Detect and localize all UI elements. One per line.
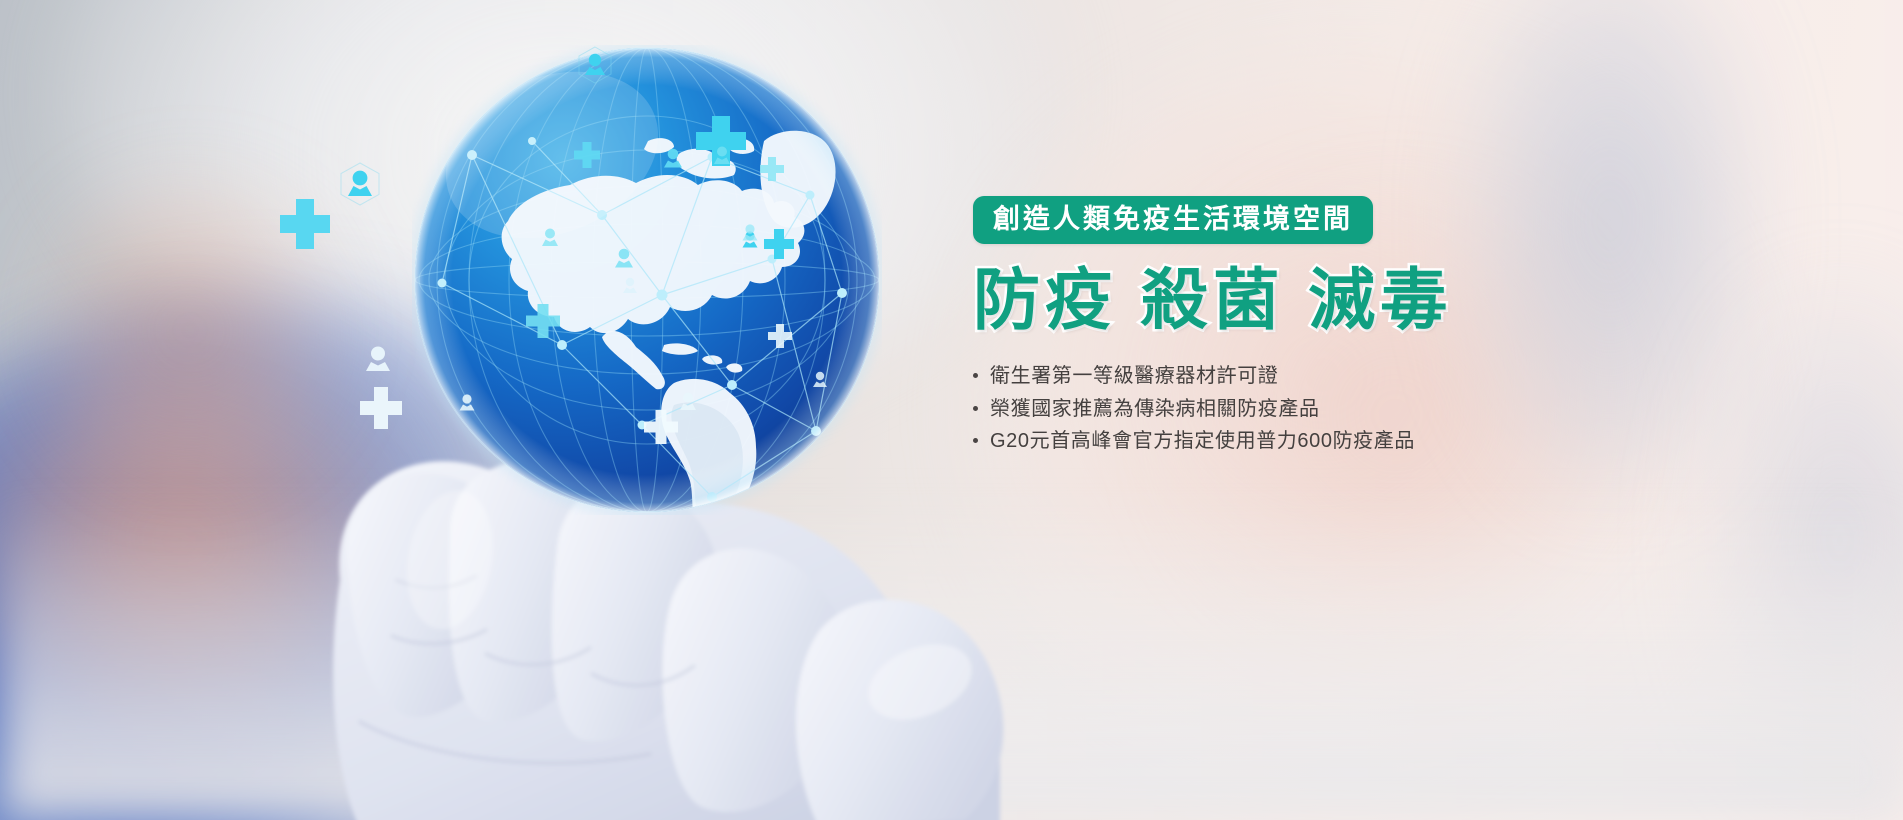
person-icon xyxy=(575,45,615,85)
person-icon xyxy=(356,338,400,382)
person-icon xyxy=(534,222,566,254)
person-icon xyxy=(806,366,834,394)
medical-cross-icon xyxy=(524,302,562,340)
person-icon xyxy=(336,160,384,208)
bullet-dot-icon xyxy=(973,406,978,411)
list-item-label: G20元首高峰會官方指定使用普力600防疫產品 xyxy=(990,430,1415,452)
person-icon xyxy=(607,242,641,276)
person-icon xyxy=(706,140,738,172)
medical-cross-icon xyxy=(572,140,602,170)
list-item: G20元首高峰會官方指定使用普力600防疫產品 xyxy=(973,425,1593,457)
list-item: 衛生署第一等級醫療器材許可證 xyxy=(973,360,1593,392)
medical-cross-icon xyxy=(758,155,786,183)
person-icon xyxy=(452,388,482,418)
medical-cross-icon xyxy=(276,195,334,253)
medical-cross-icon xyxy=(762,227,796,261)
person-icon xyxy=(735,218,765,248)
page-title: 防疫 殺菌 滅毒 xyxy=(973,263,1593,338)
tagline-badge: 創造人類免疫生活環境空間 xyxy=(973,196,1373,244)
list-item-label: 榮獲國家推薦為傳染病相關防疫產品 xyxy=(990,398,1320,420)
person-icon xyxy=(616,272,644,300)
hero-banner: 創造人類免疫生活環境空間 防疫 殺菌 滅毒 衛生署第一等級醫療器材許可證 榮獲國… xyxy=(0,0,1903,820)
bullet-dot-icon xyxy=(973,373,978,378)
list-item-label: 衛生署第一等級醫療器材許可證 xyxy=(990,365,1278,387)
person-icon xyxy=(656,142,690,176)
medical-cross-icon xyxy=(642,408,680,446)
medical-cross-icon xyxy=(357,384,405,432)
medical-cross-icon xyxy=(766,322,794,350)
feature-list: 衛生署第一等級醫療器材許可證 榮獲國家推薦為傳染病相關防疫產品 G20元首高峰會… xyxy=(973,360,1593,457)
bullet-dot-icon xyxy=(973,438,978,443)
list-item: 榮獲國家推薦為傳染病相關防疫產品 xyxy=(973,393,1593,425)
hero-copy: 創造人類免疫生活環境空間 防疫 殺菌 滅毒 衛生署第一等級醫療器材許可證 榮獲國… xyxy=(973,196,1593,458)
